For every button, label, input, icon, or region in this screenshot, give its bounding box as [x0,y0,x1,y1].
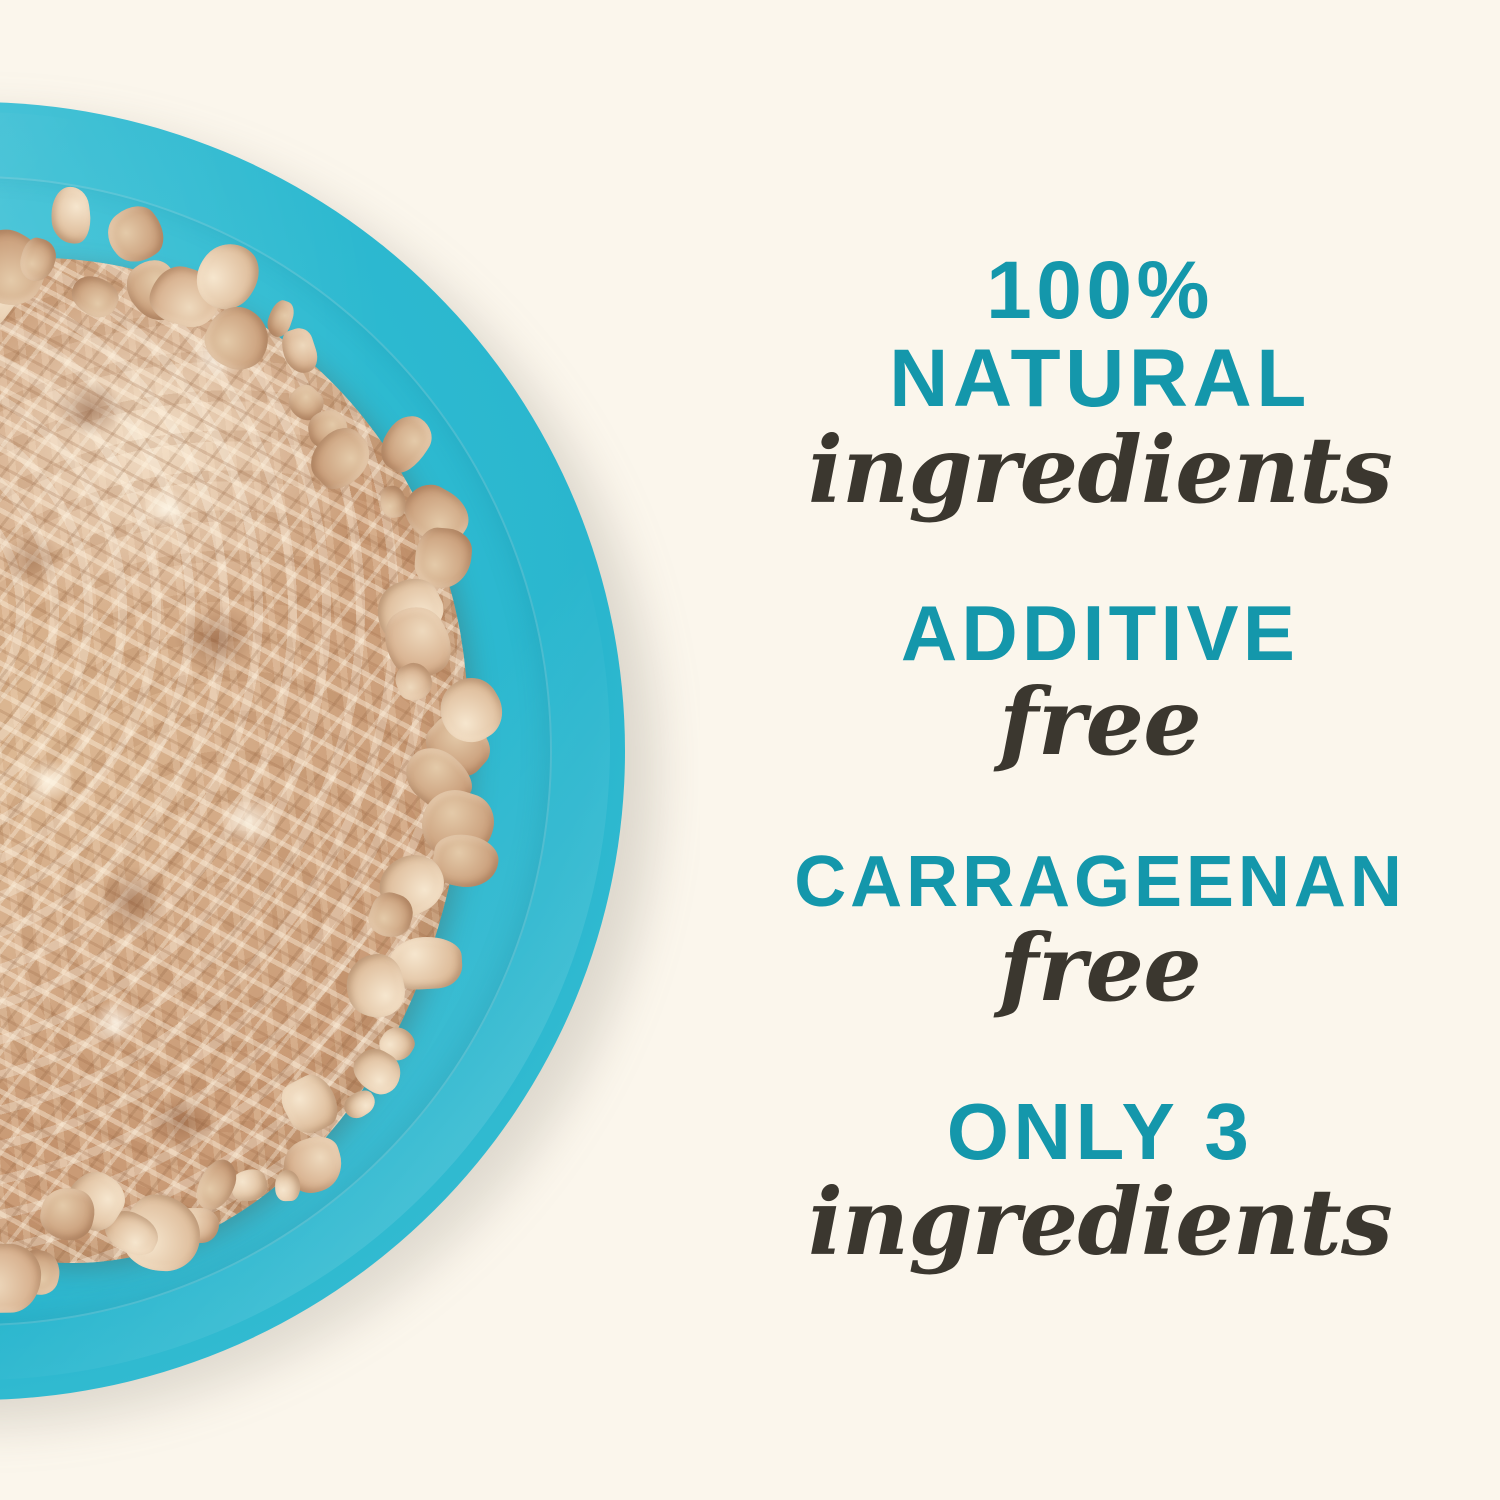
claim-headline-line-1: 100% [986,250,1214,332]
claim-headline: ADDITIVE [726,594,1474,672]
claim-carrageenan-free: CARRAGEENAN free [726,846,1474,1016]
food-highlight-chunks [0,258,468,1263]
claim-script-word: free [726,922,1474,1016]
food-mound [0,258,468,1263]
claim-headline-line-1: ADDITIVE [901,594,1299,672]
claim-headline: CARRAGEENAN [726,846,1474,918]
product-claims-graphic: 100% NATURAL ingredients ADDITIVE free C… [0,0,1500,1500]
claim-script-word: free [726,676,1474,770]
claim-headline: 100% NATURAL [726,250,1474,420]
claim-headline: ONLY 3 [726,1092,1474,1172]
claim-headline-line-1: CARRAGEENAN [794,846,1406,918]
claim-additive-free: ADDITIVE free [726,594,1474,770]
claim-natural-ingredients: 100% NATURAL ingredients [726,250,1474,518]
claim-script-word: ingredients [726,1176,1474,1270]
claim-script-word: ingredients [726,424,1474,518]
claim-headline-line-1: ONLY 3 [947,1092,1254,1172]
claim-only-3-ingredients: ONLY 3 ingredients [726,1092,1474,1270]
product-photo [0,0,700,1500]
claim-headline-line-2: NATURAL [889,338,1311,420]
claims-column: 100% NATURAL ingredients ADDITIVE free C… [700,0,1500,1500]
